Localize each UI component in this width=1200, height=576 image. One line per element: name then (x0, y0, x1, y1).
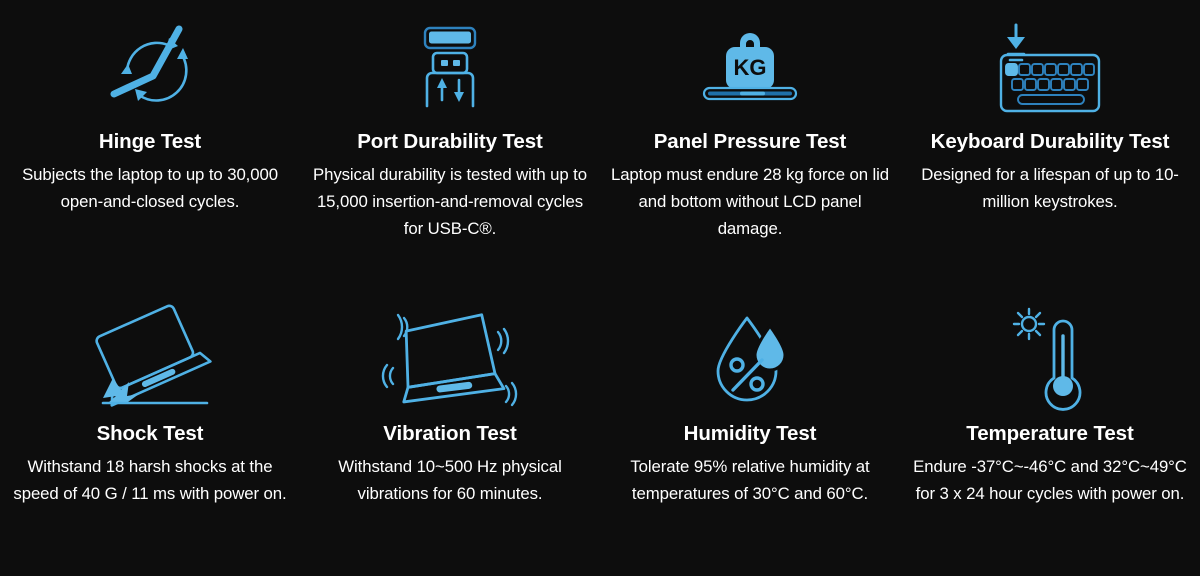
icon-container (700, 304, 800, 412)
icon-container: KG (685, 16, 815, 120)
sun-ray-se (1036, 331, 1040, 335)
feature-title: Temperature Test (966, 422, 1133, 447)
key (1064, 79, 1075, 90)
vibration-arc-top-left-1 (404, 318, 407, 336)
key (1045, 64, 1056, 75)
key (1025, 79, 1036, 90)
percent-slash (733, 360, 762, 390)
arrow-head-right (177, 48, 188, 59)
feature-description: Withstand 18 harsh shocks at the speed o… (9, 453, 291, 507)
sun-core (1022, 317, 1036, 331)
vibration-arc-top-left-2 (398, 315, 402, 339)
weight-label: KG (734, 55, 767, 80)
feature-title: Shock Test (97, 422, 204, 447)
connector-pin-right (453, 60, 460, 66)
icon-container (75, 304, 225, 412)
icon-container (1000, 304, 1100, 412)
press-arrow-head (1007, 37, 1025, 49)
arrow-down-head (454, 92, 464, 102)
feature-card-panel-pressure-test: KG Panel Pressure Test Laptop must endur… (600, 0, 900, 288)
usb-port-insertion-icon (400, 18, 500, 118)
sun-icon (1014, 309, 1044, 339)
feature-description: Endure -37°C~-46°C and 32°C~49°C for 3 x… (909, 453, 1191, 507)
feature-title: Humidity Test (684, 422, 817, 447)
vibration-arc-bottom-right-1 (506, 386, 509, 402)
vibration-arc-top-right-2 (504, 329, 508, 353)
icon-container (90, 16, 210, 120)
key (1051, 79, 1062, 90)
key (1058, 64, 1069, 75)
feature-card-temperature-test: Temperature Test Endure -37°C~-46°C and … (900, 288, 1200, 576)
sun-ray-ne (1036, 313, 1040, 317)
feature-title: Vibration Test (383, 422, 516, 447)
icon-container (985, 16, 1115, 120)
key (1019, 64, 1030, 75)
hinge-rotation-icon (90, 18, 210, 118)
connector-head (433, 53, 467, 73)
feature-description: Withstand 10~500 Hz physical vibrations … (309, 453, 591, 507)
icon-container (375, 304, 525, 412)
closed-laptop-latch (740, 92, 765, 96)
feature-title: Keyboard Durability Test (931, 130, 1170, 155)
key (1038, 79, 1049, 90)
feature-description: Tolerate 95% relative humidity at temper… (609, 453, 891, 507)
arrow-up-head (437, 78, 447, 88)
key-spacebar (1018, 95, 1084, 104)
vibration-arc-bottom-left-1 (390, 368, 393, 384)
icon-container (400, 16, 500, 120)
connector-body (427, 73, 473, 106)
vibration-arc-bottom-right-2 (512, 383, 516, 405)
key (1084, 64, 1094, 75)
kg-weight-on-laptop-icon: KG (685, 18, 815, 118)
port-slot-fill (429, 32, 471, 44)
feature-card-hinge-test: Hinge Test Subjects the laptop to up to … (0, 0, 300, 288)
feature-description: Physical durability is tested with up to… (309, 161, 591, 243)
key (1012, 79, 1023, 90)
sun-ray-sw (1018, 331, 1022, 335)
feature-card-vibration-test: Vibration Test Withstand 10~500 Hz physi… (300, 288, 600, 576)
feature-card-shock-test: Shock Test Withstand 18 harsh shocks at … (0, 288, 300, 576)
feature-description: Subjects the laptop to up to 30,000 open… (9, 161, 291, 215)
connector-pin-left (441, 60, 448, 66)
feature-title: Panel Pressure Test (654, 130, 847, 155)
feature-card-keyboard-durability-test: Keyboard Durability Test Designed for a … (900, 0, 1200, 288)
feature-description: Laptop must endure 28 kg force on lid an… (609, 161, 891, 243)
durability-test-grid: Hinge Test Subjects the laptop to up to … (0, 0, 1200, 576)
key-highlighted (1006, 64, 1017, 75)
percent-circle-top (731, 359, 743, 371)
feature-card-humidity-test: Humidity Test Tolerate 95% relative humi… (600, 288, 900, 576)
keyboard-keypress-icon (985, 17, 1115, 119)
water-droplet-percent-icon (700, 308, 800, 408)
feature-title: Hinge Test (99, 130, 201, 155)
feature-title: Port Durability Test (357, 130, 543, 155)
vibration-arc-bottom-left-2 (383, 365, 387, 387)
thermometer-sun-icon (1000, 306, 1100, 410)
feature-description: Designed for a lifespan of up to 10-mill… (909, 161, 1191, 215)
key (1077, 79, 1088, 90)
laptop-vibration-icon (375, 306, 525, 410)
percent-circle-bottom (751, 378, 763, 390)
laptop-impact-shock-icon (75, 306, 225, 410)
vibration-arc-top-right-1 (498, 332, 501, 350)
sun-ray-nw (1018, 313, 1022, 317)
key (1071, 64, 1082, 75)
key (1032, 64, 1043, 75)
feature-card-port-durability-test: Port Durability Test Physical durability… (300, 0, 600, 288)
